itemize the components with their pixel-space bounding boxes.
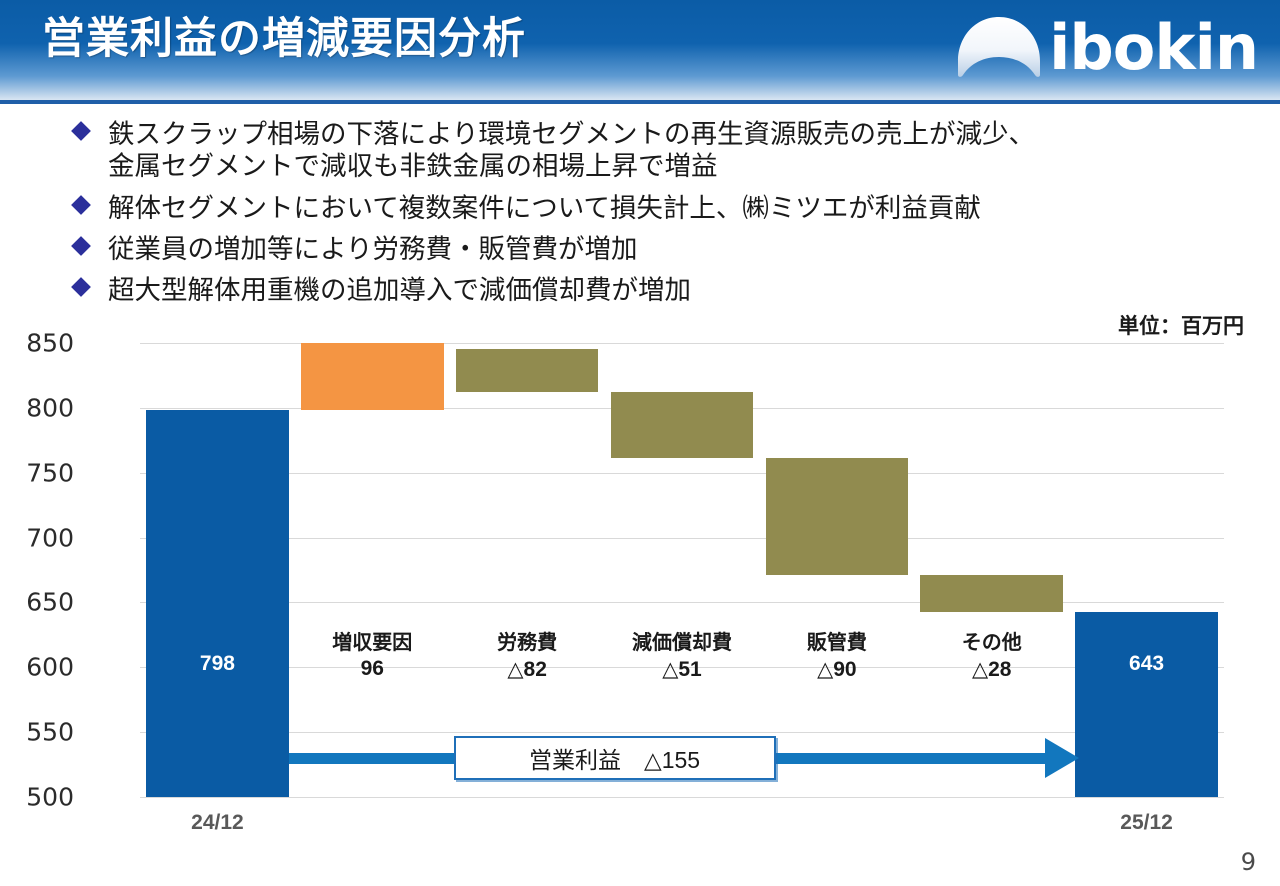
- header-divider: [0, 100, 1280, 104]
- y-axis-tick-label: 600: [0, 653, 74, 682]
- bullet-text-line1: 従業員の増加等により労務費・販管費が増加: [108, 234, 637, 264]
- bullet-text-line2: 金属セグメントで減収も非鉄金属の相場上昇で増益: [108, 150, 1250, 182]
- y-axis-tick-label: 700: [0, 523, 74, 552]
- y-axis-tick-label: 750: [0, 458, 74, 487]
- bullet-text-line1: 解体セグメントにおいて複数案件について損失計上、㈱ミツエが利益貢献: [108, 193, 981, 223]
- bar-delta-value: △90: [759, 657, 914, 682]
- bullet-item: 従業員の増加等により労務費・販管費が増加: [70, 233, 1250, 265]
- annotation-callout: 営業利益 △155: [454, 736, 776, 780]
- bullet-list: 鉄スクラップ相場の下落により環境セグメントの再生資源販売の売上が減少、 金属セグ…: [70, 118, 1250, 316]
- chart-unit-note: 単位：百万円: [1118, 310, 1244, 340]
- slide-header: 営業利益の増減要因分析 ibokin: [0, 0, 1280, 103]
- bar-increase: [301, 343, 443, 410]
- bar-delta-value: 96: [295, 657, 450, 681]
- bar-delta-value: △82: [450, 657, 605, 682]
- bar-total-value: 643: [1075, 652, 1217, 676]
- page-number: 9: [1241, 848, 1256, 876]
- diamond-bullet-icon: [71, 277, 91, 297]
- bar-category-label: 減価償却費: [605, 626, 760, 655]
- brand-logo: ibokin: [955, 6, 1258, 90]
- y-gridline: [140, 732, 1224, 733]
- y-gridline: [140, 538, 1224, 539]
- bar-decrease: [456, 349, 598, 392]
- bullet-item: 鉄スクラップ相場の下落により環境セグメントの再生資源販売の売上が減少、 金属セグ…: [70, 118, 1250, 183]
- bar-total: [1075, 612, 1217, 797]
- bar-category-label: その他: [914, 626, 1069, 655]
- y-axis-tick-label: 800: [0, 393, 74, 422]
- bar-total-value: 798: [146, 652, 288, 676]
- bullet-text-line1: 鉄スクラップ相場の下落により環境セグメントの再生資源販売の売上が減少、: [108, 119, 1035, 149]
- bar-category-label: 労務費: [450, 626, 605, 655]
- y-axis-tick-label: 500: [0, 783, 74, 812]
- bar-decrease: [920, 575, 1062, 611]
- diamond-bullet-icon: [71, 121, 91, 141]
- bar-category-label: 販管費: [759, 626, 914, 655]
- bar-total: [146, 410, 288, 797]
- mountain-dome-icon: [955, 15, 1043, 81]
- brand-wordmark: ibokin: [1049, 15, 1258, 81]
- diamond-bullet-icon: [71, 195, 91, 215]
- bar-decrease: [766, 458, 908, 575]
- waterfall-chart: 単位：百万円 850800750700650600550500798増収要因96…: [0, 300, 1280, 886]
- bar-delta-value: △28: [914, 657, 1069, 682]
- bullet-item: 解体セグメントにおいて複数案件について損失計上、㈱ミツエが利益貢献: [70, 192, 1250, 224]
- y-gridline: [140, 797, 1224, 798]
- page-title: 営業利益の増減要因分析: [42, 14, 526, 66]
- slide-root: 営業利益の増減要因分析 ibokin 鉄スクラップ相場の下落により環境セグメント…: [0, 0, 1280, 886]
- y-axis-tick-label: 650: [0, 588, 74, 617]
- bar-delta-value: △51: [605, 657, 760, 682]
- x-axis-label: 25/12: [1069, 811, 1224, 835]
- chart-plot-area: 850800750700650600550500798増収要因96労務費△82減…: [140, 343, 1224, 797]
- y-axis-tick-label: 550: [0, 718, 74, 747]
- diamond-bullet-icon: [71, 236, 91, 256]
- y-axis-tick-label: 850: [0, 329, 74, 358]
- bar-category-label: 増収要因: [295, 626, 450, 655]
- annotation-arrow-head: [1045, 738, 1079, 778]
- y-gridline: [140, 473, 1224, 474]
- x-axis-label: 24/12: [140, 811, 295, 835]
- bar-decrease: [611, 392, 753, 458]
